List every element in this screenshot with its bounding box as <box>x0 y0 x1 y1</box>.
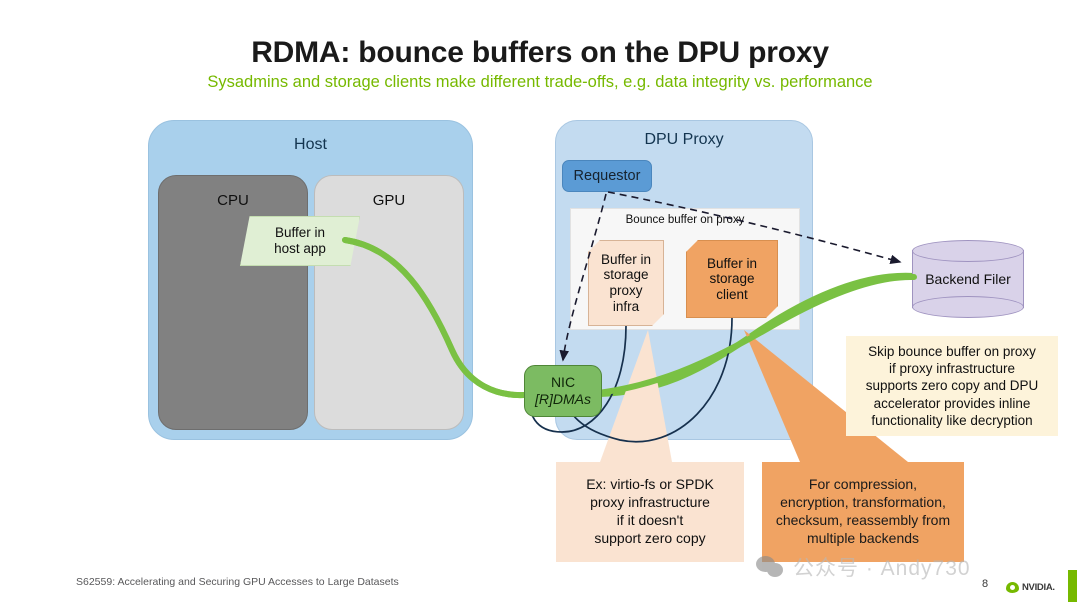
wechat-icon <box>756 556 786 578</box>
watermark-text: 公众号 · Andy730 <box>793 552 971 582</box>
nic-label-line2: [R]DMAs <box>535 391 591 407</box>
callout-compression-transforms: For compression, encryption, transformat… <box>762 462 964 562</box>
slide-canvas: RDMA: bounce buffers on the DPU proxy Sy… <box>0 0 1080 608</box>
wechat-watermark: 公众号 · Andy730 <box>756 552 971 582</box>
callout-skip-bounce-buffer: Skip bounce buffer on proxy if proxy inf… <box>846 336 1058 436</box>
nic-label-line1: NIC <box>551 375 575 390</box>
nic-box: NIC [R]DMAs <box>524 365 602 417</box>
callout-example-proxy-infra: Ex: virtio-fs or SPDK proxy infrastructu… <box>556 462 744 562</box>
